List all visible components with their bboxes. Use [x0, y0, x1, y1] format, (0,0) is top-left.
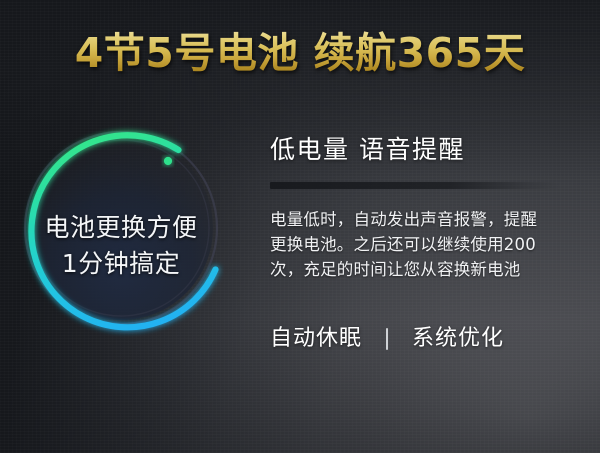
- feature-tag-system-optimize: 系统优化: [412, 324, 504, 354]
- feature-tag-row: 自动休眠 系统优化: [270, 324, 578, 354]
- feature-description: 电量低时，自动发出声音报警，提醒 更换电池。之后还可以继续使用200 次，充足的…: [270, 207, 578, 282]
- progress-dot-icon: [164, 157, 172, 165]
- feature-description-line-1: 电量低时，自动发出声音报警，提醒: [270, 207, 578, 232]
- battery-progress-ring: 电池更换方便 1分钟搞定: [18, 118, 224, 344]
- page-title: 4节5号电池 续航365天: [75, 28, 525, 78]
- feature-description-line-3: 次，充足的时间让您从容换新电池: [270, 257, 578, 282]
- feature-divider: [270, 182, 560, 189]
- promo-poster: 4节5号电池 续航365天: [0, 0, 600, 453]
- tag-separator: [386, 328, 388, 350]
- feature-heading: 低电量 语音提醒: [270, 134, 578, 166]
- feature-column: 低电量 语音提醒 电量低时，自动发出声音报警，提醒 更换电池。之后还可以继续使用…: [270, 134, 578, 354]
- progress-ring-graphic: [18, 118, 224, 344]
- feature-tag-auto-sleep: 自动休眠: [270, 324, 362, 354]
- title-container: 4节5号电池 续航365天: [0, 28, 600, 78]
- feature-description-line-2: 更换电池。之后还可以继续使用200: [270, 232, 578, 257]
